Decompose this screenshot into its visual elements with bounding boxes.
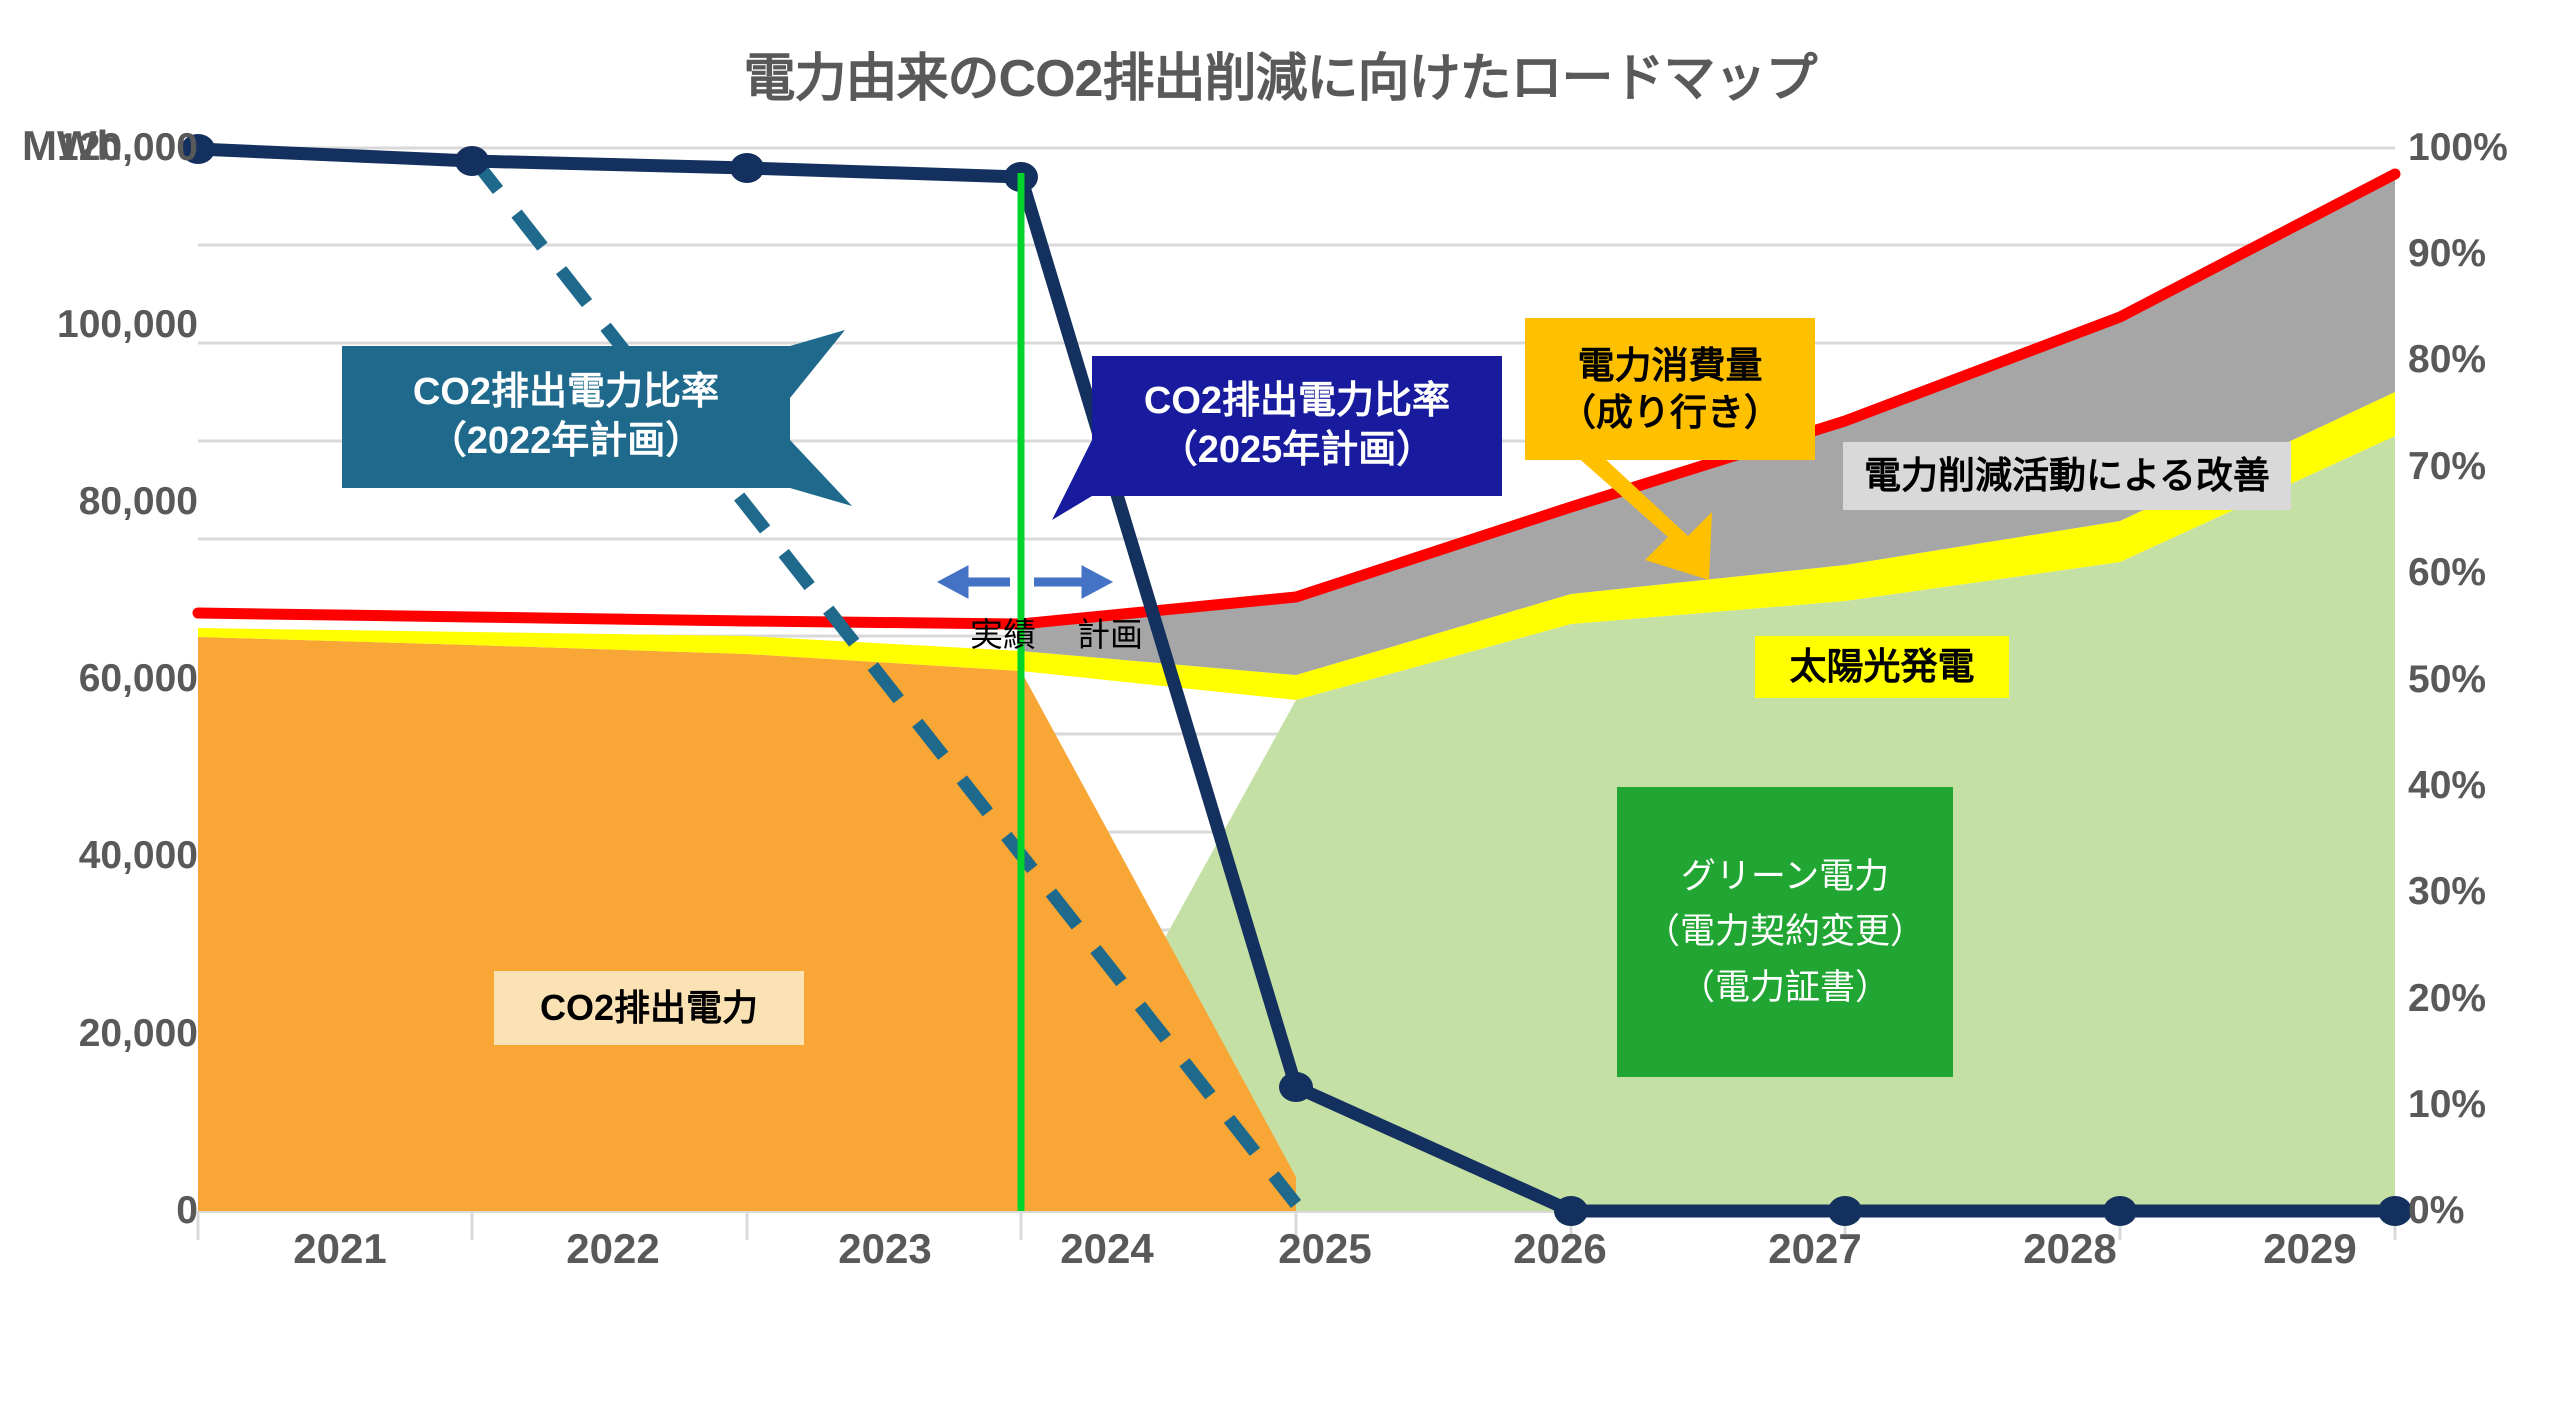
- ytick-right-5: 50%: [2408, 658, 2486, 702]
- ytick-left-0: 120,000: [57, 126, 198, 170]
- callout-co2-emitting-power: CO2排出電力: [494, 971, 804, 1045]
- xtick-2024: 2024: [1060, 1225, 1153, 1273]
- xtick-2022: 2022: [566, 1225, 659, 1273]
- xtick-2028: 2028: [2023, 1225, 2116, 1273]
- chart-root: 電力由来のCO2排出削減に向けたロードマップ MWh: [0, 0, 2560, 1423]
- callout-power-consumption: 電力消費量 （成り行き）: [1525, 318, 1815, 460]
- xtick-2027: 2027: [1768, 1225, 1861, 1273]
- callout-consumption-line2: （成り行き）: [1559, 389, 1781, 436]
- ytick-left-2: 80,000: [79, 480, 198, 524]
- plan2022-callout-tail: [790, 330, 845, 398]
- callout-green-line2: （電力契約変更）: [1645, 904, 1925, 959]
- callout-green-line3: （電力証書）: [1680, 960, 1890, 1015]
- callout-plan2022-line2: （2022年計画）: [429, 417, 704, 466]
- actual-period-label: 実績: [970, 608, 1036, 656]
- ytick-right-6: 40%: [2408, 764, 2486, 808]
- ytick-right-8: 20%: [2408, 977, 2486, 1021]
- ytick-right-3: 70%: [2408, 445, 2486, 489]
- ytick-left-3: 60,000: [79, 657, 198, 701]
- ytick-right-4: 60%: [2408, 551, 2486, 595]
- callout-consumption-line1: 電力消費量: [1578, 342, 1763, 389]
- callout-reduction-line1: 電力削減活動による改善: [1864, 452, 2270, 499]
- callout-green-line1: グリーン電力: [1681, 849, 1889, 904]
- ytick-left-5: 20,000: [79, 1012, 198, 1056]
- xtick-2021: 2021: [293, 1225, 386, 1273]
- callout-co2-ratio-plan-2025: CO2排出電力比率 （2025年計画）: [1092, 356, 1502, 496]
- ytick-right-1: 90%: [2408, 232, 2486, 276]
- ytick-right-2: 80%: [2408, 338, 2486, 382]
- xtick-2023: 2023: [838, 1225, 931, 1273]
- callout-solar-power: 太陽光発電: [1755, 636, 2009, 698]
- ytick-right-10: 0%: [2408, 1189, 2464, 1233]
- callout-plan2025-line1: CO2排出電力比率: [1144, 377, 1450, 426]
- plan-period-label: 計画: [1077, 608, 1143, 656]
- callout-solar-line1: 太陽光発電: [1790, 643, 1975, 690]
- callout-co2-ratio-plan-2022: CO2排出電力比率 （2022年計画）: [342, 346, 790, 488]
- ytick-right-0: 100%: [2408, 126, 2508, 170]
- ytick-right-7: 30%: [2408, 870, 2486, 914]
- callout-plan2022-line1: CO2排出電力比率: [413, 368, 719, 417]
- ytick-left-4: 40,000: [79, 834, 198, 878]
- callout-co2power-line1: CO2排出電力: [540, 985, 758, 1031]
- xtick-2026: 2026: [1513, 1225, 1606, 1273]
- callout-plan2025-line2: （2025年計画）: [1160, 426, 1435, 475]
- ytick-left-6: 0: [176, 1189, 198, 1233]
- plan2025-callout-tail: [1052, 440, 1092, 520]
- actual-period-arrow-icon: [938, 566, 1010, 598]
- area-co2-power: [198, 637, 1296, 1211]
- callout-green-power: グリーン電力 （電力契約変更） （電力証書）: [1617, 787, 1953, 1077]
- plan-period-arrow-icon: [1034, 566, 1112, 598]
- ytick-right-9: 10%: [2408, 1083, 2486, 1127]
- ytick-left-1: 100,000: [57, 303, 198, 347]
- chart-plot-area: [0, 0, 2560, 1423]
- xtick-2025: 2025: [1278, 1225, 1371, 1273]
- callout-power-reduction: 電力削減活動による改善: [1843, 442, 2291, 510]
- xtick-2029: 2029: [2263, 1225, 2356, 1273]
- plan2022-callout-tail-2: [790, 440, 852, 506]
